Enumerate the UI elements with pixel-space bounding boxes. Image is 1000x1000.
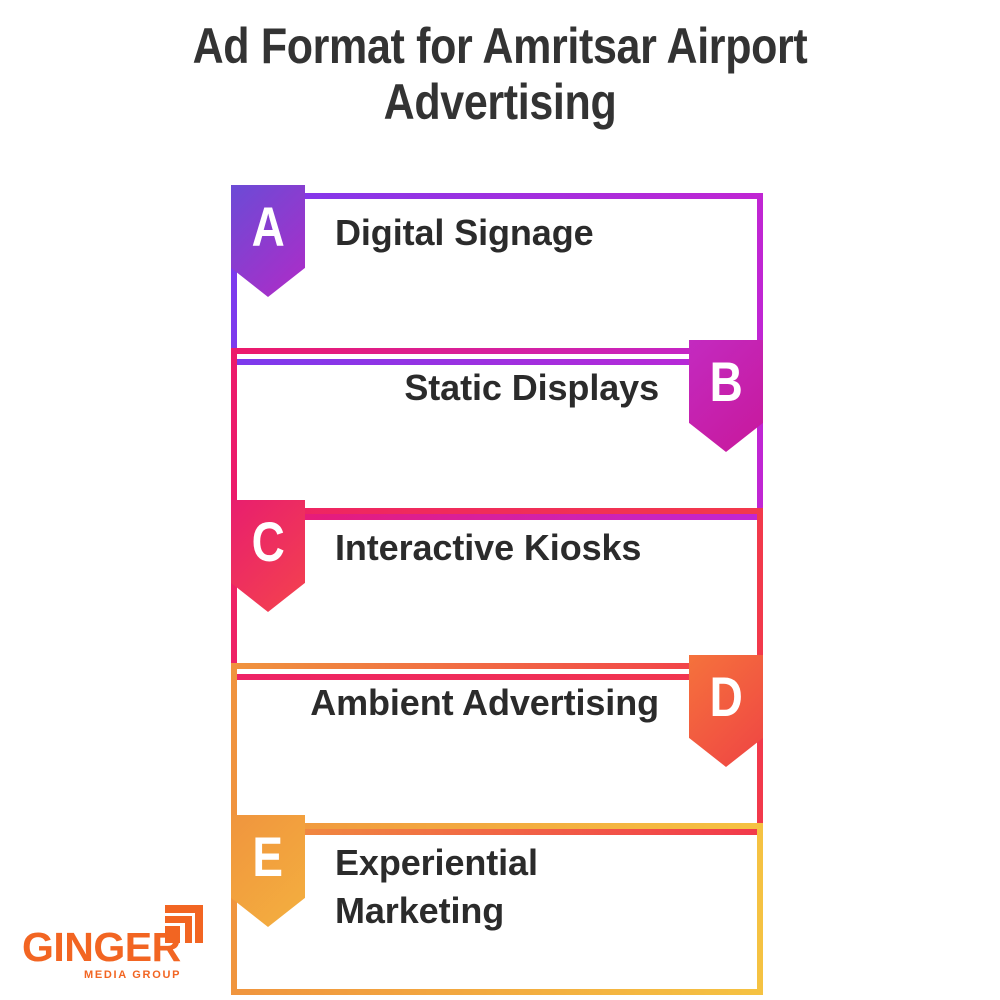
step-row-e[interactable]: EExperiential Marketing xyxy=(231,823,763,995)
step-label: Ambient Advertising xyxy=(253,679,659,727)
ad-format-step-list: ADigital SignageBStatic DisplaysCInterac… xyxy=(0,0,1000,1000)
step-row-c[interactable]: CInteractive Kiosks xyxy=(231,508,763,680)
step-label: Static Displays xyxy=(253,364,659,412)
step-row-d[interactable]: DAmbient Advertising xyxy=(231,663,763,835)
step-badge-letter: B xyxy=(709,354,742,410)
step-row-a[interactable]: ADigital Signage xyxy=(231,193,763,365)
step-badge-letter: C xyxy=(251,514,284,570)
step-label: Digital Signage xyxy=(335,209,741,257)
ginger-media-group-logo: GINGER MEDIA GROUP xyxy=(22,903,222,989)
logo-wordmark: GINGER xyxy=(22,927,181,968)
step-badge-letter: D xyxy=(709,669,742,725)
step-label: Interactive Kiosks xyxy=(335,524,741,572)
nested-corner-square-icon xyxy=(159,903,205,945)
step-badge-letter: E xyxy=(253,829,284,885)
step-row-b[interactable]: BStatic Displays xyxy=(231,348,763,520)
step-badge-letter: A xyxy=(251,199,284,255)
step-label: Experiential Marketing xyxy=(335,839,741,934)
logo-tagline: MEDIA GROUP xyxy=(84,969,181,981)
